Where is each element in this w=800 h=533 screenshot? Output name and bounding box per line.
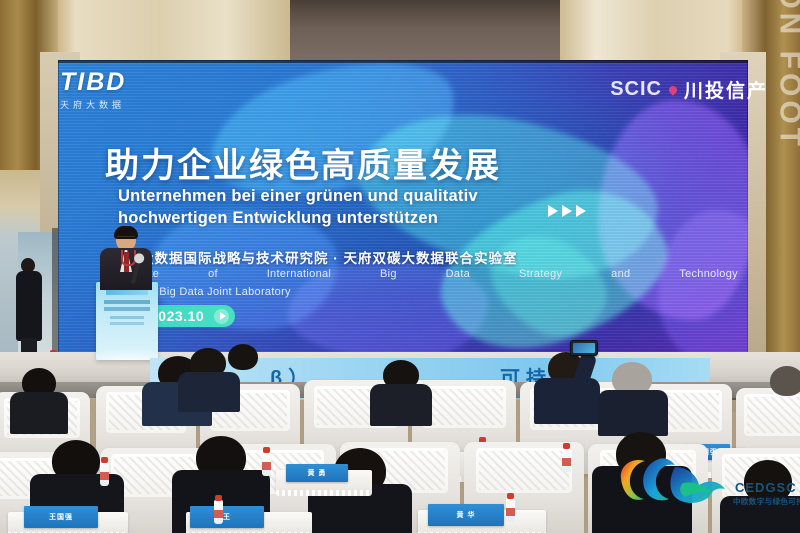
attendee-torso <box>10 392 68 434</box>
org-en-word: of <box>208 268 218 280</box>
nameplate: 王国强 <box>24 506 98 528</box>
tibd-logo-mark: TIBD <box>60 70 180 95</box>
org-en-word: Strategy <box>519 268 562 280</box>
attendee-torso <box>178 372 240 412</box>
nameplate: 黄 华 <box>428 504 504 526</box>
screen-subtitle-german: Unternehmen bei einer grünen und qualita… <box>118 186 558 230</box>
scic-logo-mark: SCIC <box>610 78 662 101</box>
scic-logo-chinese: 川投信产 <box>684 76 768 103</box>
org-en-word: International <box>267 268 331 280</box>
org-en-word: Big <box>380 268 397 280</box>
nameplate-text: 黄 华 <box>457 510 476 520</box>
date-badge-text: 2023.10 <box>150 308 204 324</box>
attendee-torso <box>534 378 600 424</box>
speaker-at-lectern <box>100 228 152 288</box>
water-bottle <box>562 448 571 472</box>
subtitle-german-line1: Unternehmen bei einer grünen und qualita… <box>118 186 558 208</box>
org-en-word: Data <box>446 268 470 280</box>
attendee-torso <box>370 384 432 426</box>
tibd-logo: TIBD 天府大数据 <box>60 70 180 111</box>
water-bottle <box>214 500 223 524</box>
vertical-carbon-footprint-text: CARBON FOOT <box>772 0 800 150</box>
attendee-torso <box>598 390 668 436</box>
tibd-logo-subtitle: 天府大数据 <box>60 98 180 111</box>
play-icon <box>214 309 229 324</box>
cedgsc-acronym: CEDGSC <box>735 480 797 495</box>
org-en-word: and <box>611 268 630 280</box>
subtitle-german-line2: hochwertigen Entwicklung unterstützen <box>118 208 558 230</box>
triple-right-arrow-icon <box>548 205 586 217</box>
org-en-word: Technology <box>679 268 738 280</box>
screen-top-edge <box>58 60 748 63</box>
water-bottle <box>100 462 109 486</box>
scic-logo: SCIC 川投信产 <box>610 76 768 103</box>
nameplate-text: 王国强 <box>49 512 73 522</box>
conference-scene: TIBD 天府大数据 SCIC 川投信产 助力企业绿色高质量发展 Unterne… <box>0 0 800 533</box>
cedgsc-swoosh-logo-icon <box>613 453 733 509</box>
organization-name-english-line1: Institute of International Big Data Stra… <box>118 268 738 280</box>
nameplate-text: 黄 勇 <box>308 468 327 478</box>
screen-headline-chinese: 助力企业绿色高质量发展 <box>105 138 501 187</box>
scic-dot-icon <box>667 84 678 95</box>
nameplate: 黄 勇 <box>286 464 348 482</box>
attendee-head <box>228 344 258 370</box>
cedgsc-watermark-logo: CEDGSC 中欧数字与绿色可持续发展大会 <box>607 453 792 527</box>
nameplate: 王 <box>190 506 264 528</box>
water-bottle <box>262 452 271 476</box>
organization-name-chinese: 大数据国际战略与技术研究院 · 天府双碳大数据联合实验室 <box>140 247 518 267</box>
nameplate-text: 王 <box>223 512 231 522</box>
lectern <box>96 282 158 360</box>
water-bottle <box>506 498 515 522</box>
cedgsc-subtitle: 中欧数字与绿色可持续发展大会 <box>733 496 800 507</box>
attendee-head <box>770 366 800 396</box>
smartphone-icon <box>570 340 598 356</box>
